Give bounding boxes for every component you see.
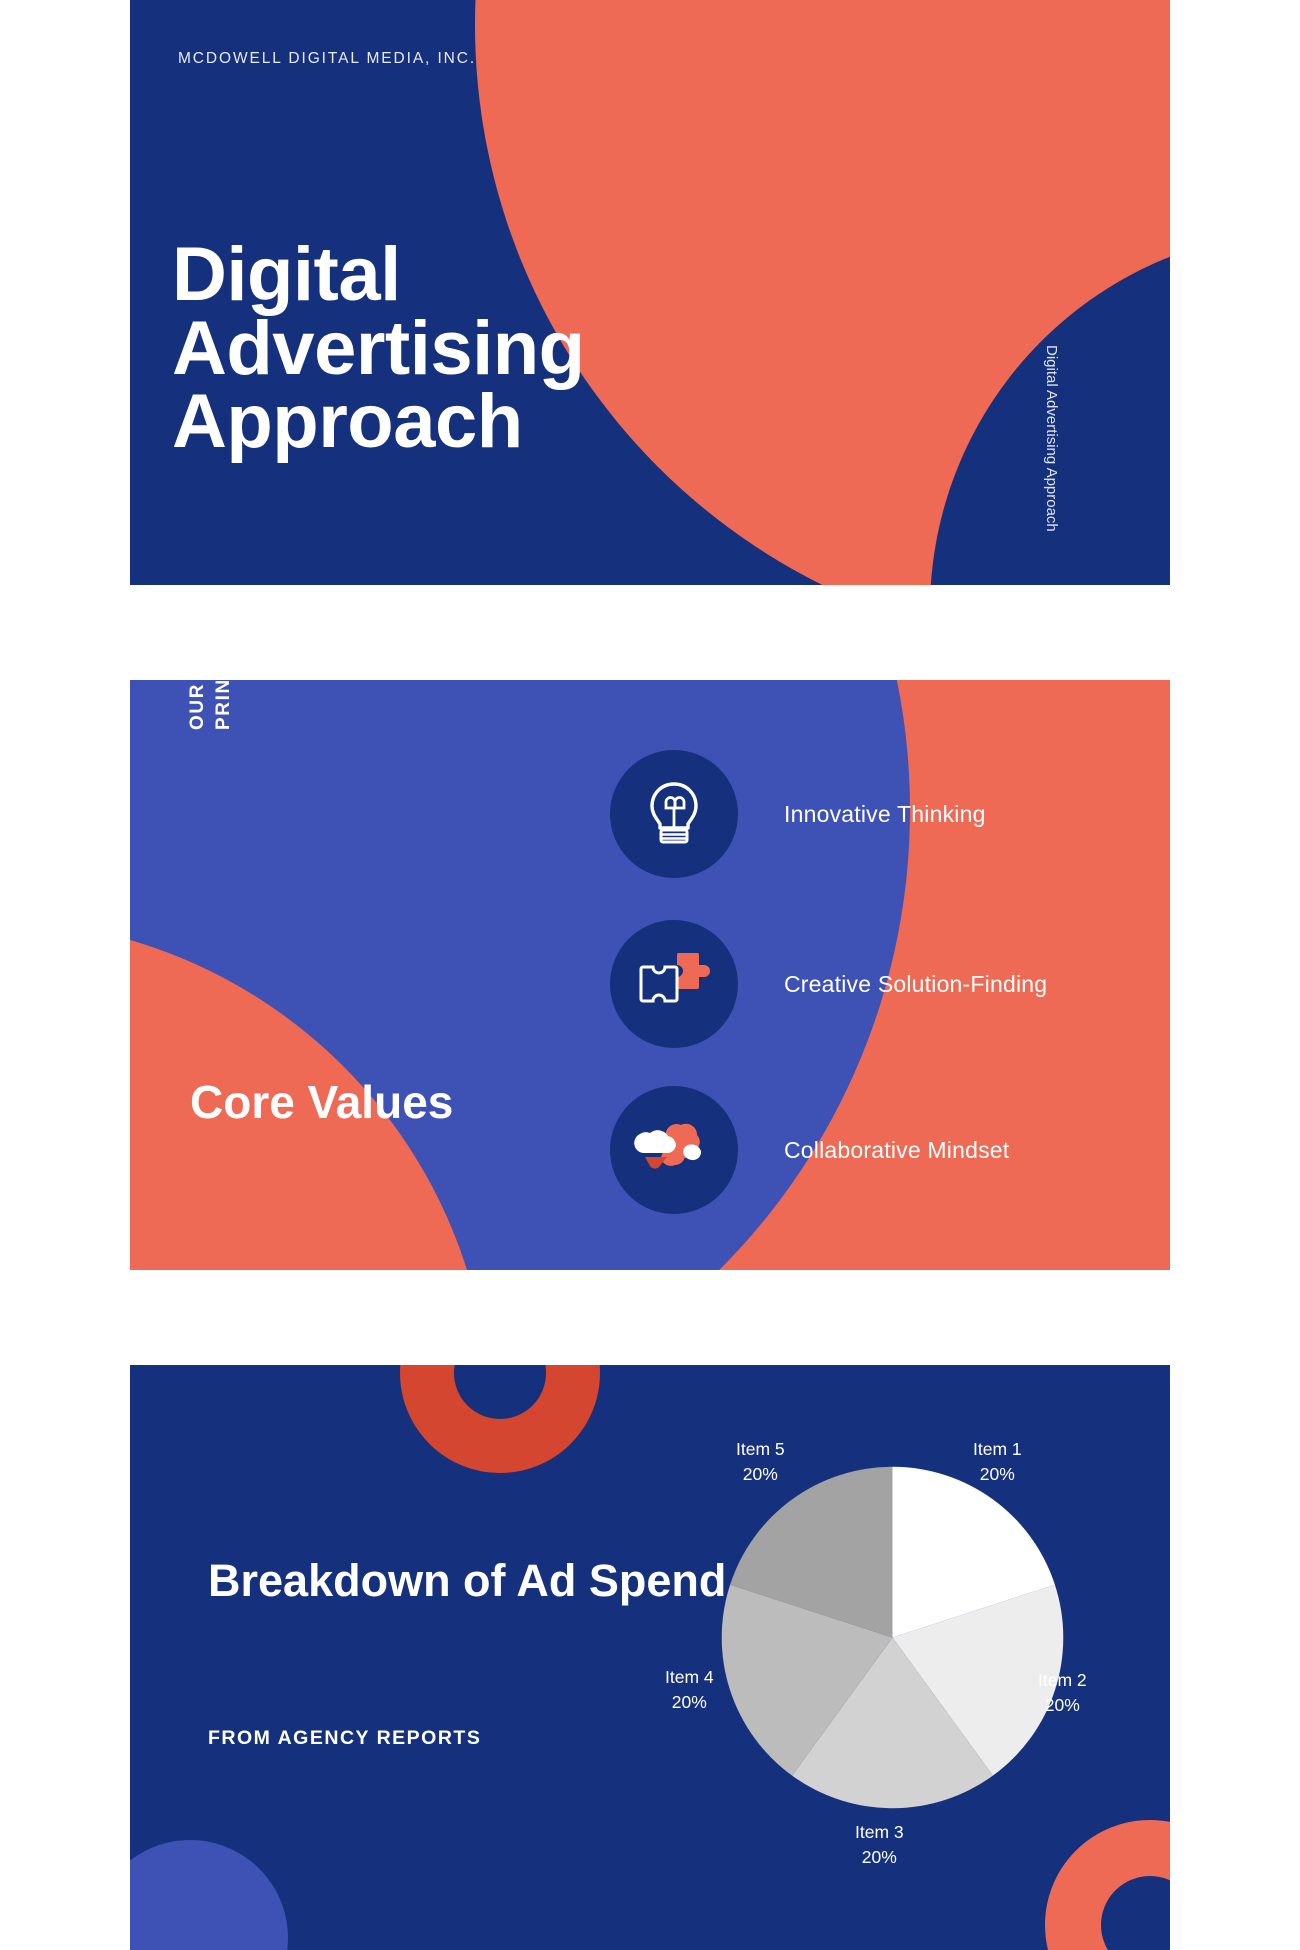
pie-slice-percent: 20% bbox=[973, 1462, 1022, 1487]
lightbulb-icon bbox=[644, 778, 704, 851]
principle-label: Creative Solution-Finding bbox=[784, 971, 1047, 998]
page-title: Digital Advertising Approach bbox=[172, 238, 732, 459]
eyebrow-line-2: PRINCIPLES bbox=[211, 584, 237, 730]
pie-slice-label-item-1: Item 1 20% bbox=[973, 1437, 1022, 1488]
list-item-innovative-thinking: Innovative Thinking bbox=[610, 750, 986, 878]
pie-chart-svg bbox=[720, 1465, 1065, 1810]
pie-chart bbox=[720, 1465, 1065, 1810]
pie-slice-percent: 20% bbox=[665, 1690, 714, 1715]
ring-decoration-bottom bbox=[1045, 1820, 1170, 1950]
presentation-deck: MCDOWELL DIGITAL MEDIA, INC. Digital Adv… bbox=[0, 0, 1300, 1950]
pie-slice-name: Item 3 bbox=[855, 1820, 904, 1845]
eyebrow-line-1: OUR GUIDING bbox=[185, 584, 211, 730]
list-item-creative-solution-finding: Creative Solution-Finding bbox=[610, 920, 1047, 1048]
pie-slice-name: Item 5 bbox=[736, 1437, 785, 1462]
pie-slice-name: Item 1 bbox=[973, 1437, 1022, 1462]
vertical-side-label: Digital Advertising Approach bbox=[1040, 345, 1063, 575]
puzzle-pieces-icon bbox=[635, 949, 713, 1020]
pie-slice-label-item-2: Item 2 20% bbox=[1038, 1668, 1087, 1719]
principle-icon-badge bbox=[610, 750, 738, 878]
circle-decoration-left bbox=[130, 1840, 288, 1950]
pie-slice-percent: 20% bbox=[855, 1845, 904, 1870]
brain-collaboration-icon bbox=[633, 1117, 715, 1184]
pie-slice-label-item-4: Item 4 20% bbox=[665, 1665, 714, 1716]
pie-slice-name: Item 2 bbox=[1038, 1668, 1087, 1693]
ring-decoration-top bbox=[400, 1365, 600, 1473]
list-item-collaborative-mindset: Collaborative Mindset bbox=[610, 1086, 1009, 1214]
pie-slice-label-item-5: Item 5 20% bbox=[736, 1437, 785, 1488]
principle-label: Innovative Thinking bbox=[784, 801, 986, 828]
core-values-heading: Core Values bbox=[190, 1078, 453, 1126]
guiding-principles-eyebrow: OUR GUIDING PRINCIPLES bbox=[185, 584, 236, 730]
principle-label: Collaborative Mindset bbox=[784, 1137, 1009, 1164]
company-name: MCDOWELL DIGITAL MEDIA, INC. bbox=[178, 48, 508, 70]
ad-spend-subheading: FROM AGENCY REPORTS bbox=[208, 1727, 481, 1750]
pie-slice-name: Item 4 bbox=[665, 1665, 714, 1690]
pie-slice-percent: 20% bbox=[736, 1462, 785, 1487]
principle-icon-badge bbox=[610, 920, 738, 1048]
pie-slice-percent: 20% bbox=[1038, 1693, 1087, 1718]
pie-slice-label-item-3: Item 3 20% bbox=[855, 1820, 904, 1871]
ad-spend-heading: Breakdown of Ad Spend bbox=[208, 1556, 726, 1606]
principle-icon-badge bbox=[610, 1086, 738, 1214]
